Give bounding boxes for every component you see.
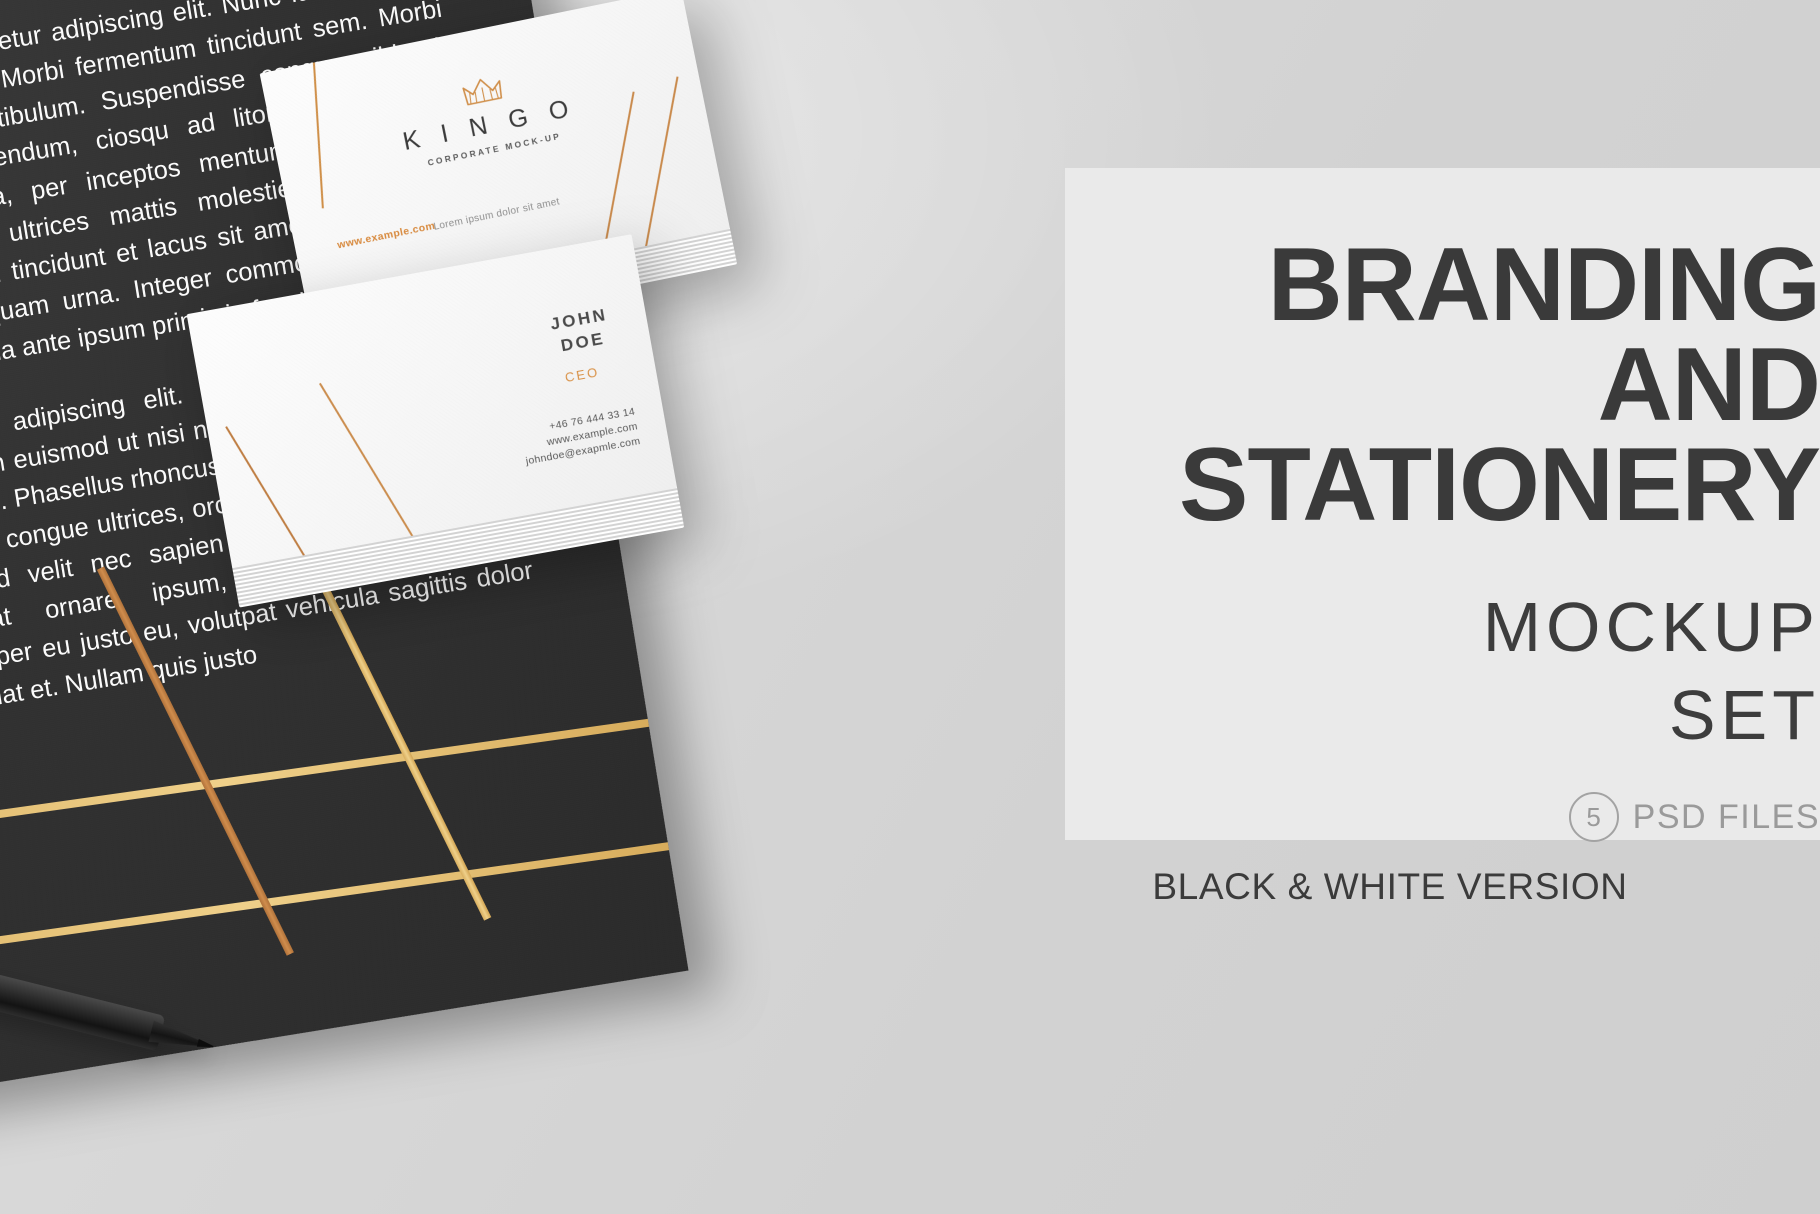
- promo-headline: BRANDING AND STATIONERY: [960, 236, 1820, 535]
- promo-headline-line-1: BRANDING: [960, 236, 1820, 336]
- mockup-scene: ...ctetur, adipisci velit... sit amet, c…: [0, 0, 1820, 1214]
- card-back-name-last: DOE: [559, 329, 606, 356]
- promo-headline-line-2: AND: [960, 336, 1820, 436]
- psd-files-label: PSD FILES: [1633, 798, 1820, 837]
- promo-subheadline-mockup: MOCKUP: [960, 590, 1820, 666]
- promo-headline-line-3: STATIONERY: [960, 436, 1820, 536]
- pen-cone: [149, 1020, 209, 1055]
- psd-files-row: 5 PSD FILES: [960, 792, 1820, 842]
- promo-subheadline-set: SET: [960, 678, 1820, 754]
- black-and-white-version-note: BLACK & WHITE VERSION: [960, 866, 1820, 908]
- file-count-badge: 5: [1569, 792, 1619, 842]
